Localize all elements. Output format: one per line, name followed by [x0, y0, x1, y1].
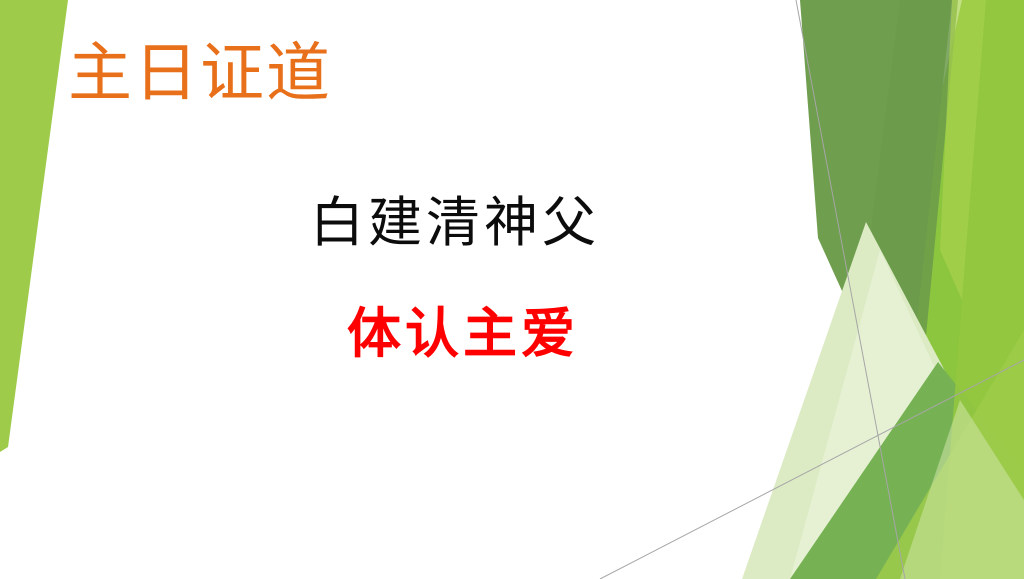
pale-translucent-right-wedge — [900, 400, 1024, 579]
pale-green-long-triangle — [742, 222, 1024, 579]
very-pale-overlay-triangle — [790, 250, 1010, 579]
page-title: 主日证道 — [68, 42, 332, 106]
pale-sliver-upper-right — [940, 0, 986, 300]
sermon-topic: 体认主爱 — [347, 306, 579, 360]
presentation-slide: 主日证道 白建清神父 体认主爱 — [0, 0, 1024, 579]
left-green-wedge — [0, 0, 68, 452]
mid-green-bottom-triangle — [790, 362, 1024, 579]
right-bright-green-field — [832, 0, 1024, 579]
gray-diagonal-line-secondary — [600, 360, 1024, 579]
olive-green-blade-secondary — [862, 0, 958, 420]
gray-diagonal-line-primary — [796, 0, 905, 579]
light-green-lower-wedge — [876, 330, 1024, 579]
bright-green-right-strip — [940, 0, 1024, 579]
olive-green-blade — [800, 0, 952, 430]
speaker-name: 白建清神父 — [310, 196, 600, 250]
deep-green-triangle — [880, 330, 960, 440]
